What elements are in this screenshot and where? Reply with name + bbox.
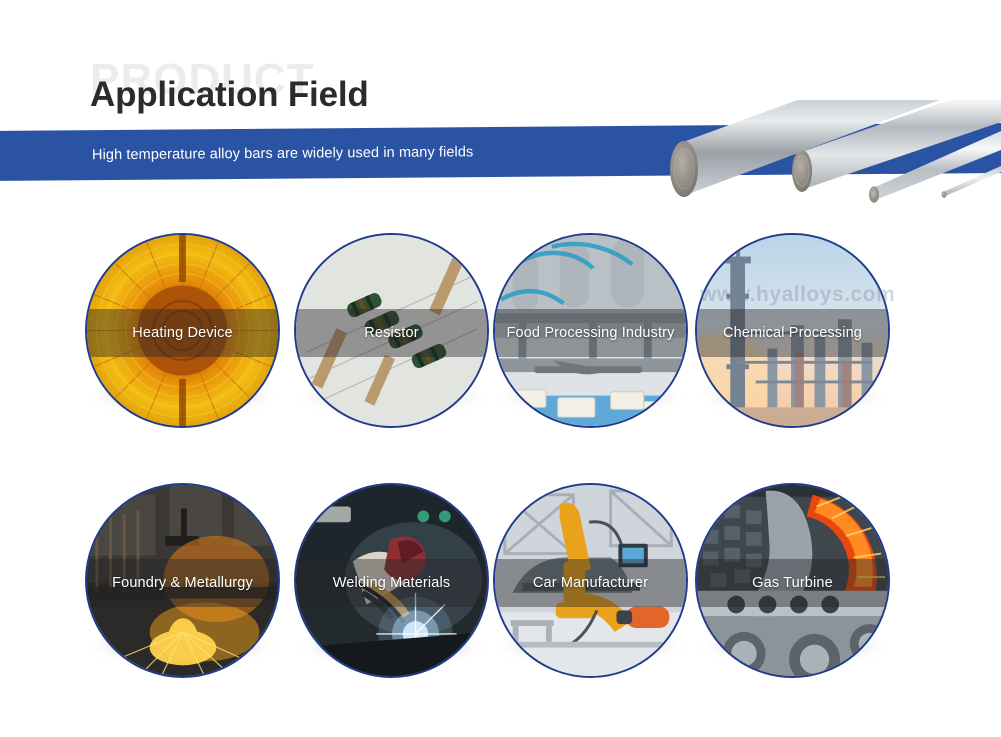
card-label-band: Car Manufacturer	[495, 559, 686, 607]
card-label: Foundry & Metallurgy	[108, 575, 257, 591]
card-label-band: Resistor	[296, 309, 487, 357]
card-label: Chemical Processing	[719, 325, 866, 341]
application-grid: Heating Device	[85, 233, 915, 733]
page-title: Application Field	[90, 75, 369, 115]
card-label: Gas Turbine	[748, 575, 837, 591]
card-label-band: Gas Turbine	[697, 559, 888, 607]
card-label-band: Heating Device	[87, 309, 278, 357]
card-circle[interactable]: Welding Materials	[294, 483, 489, 678]
card-circle[interactable]: Car Manufacturer	[493, 483, 688, 678]
card-circle[interactable]: Food Processing Industry	[493, 233, 688, 428]
application-card-heating-device[interactable]: Heating Device	[85, 233, 280, 428]
application-card-chemical-processing[interactable]: Chemical Processing	[695, 233, 890, 428]
card-label: Car Manufacturer	[529, 575, 652, 591]
card-label: Food Processing Industry	[502, 325, 678, 341]
card-circle[interactable]: Resistor	[294, 233, 489, 428]
application-field-slide: PRODUCT Application Field High temperatu…	[0, 0, 1001, 737]
application-card-gas-turbine[interactable]: Gas Turbine	[695, 483, 890, 678]
site-watermark: www.hyalloys.com	[700, 283, 895, 307]
application-card-welding-materials[interactable]: Welding Materials	[294, 483, 489, 678]
card-circle[interactable]: Foundry & Metallurgy	[85, 483, 280, 678]
card-label-band: Welding Materials	[296, 559, 487, 607]
card-circle[interactable]: Gas Turbine	[695, 483, 890, 678]
card-label-band: Foundry & Metallurgy	[87, 559, 278, 607]
application-card-resistor[interactable]: Resistor	[294, 233, 489, 428]
application-row-1: Heating Device	[85, 233, 915, 483]
card-label-band: Food Processing Industry	[495, 309, 686, 357]
card-circle[interactable]: Chemical Processing	[695, 233, 890, 428]
card-label: Resistor	[360, 325, 422, 341]
application-card-food-processing-industry[interactable]: Food Processing Industry	[493, 233, 688, 428]
subtitle-banner-text: High temperature alloy bars are widely u…	[92, 144, 473, 163]
subtitle-banner-content: High temperature alloy bars are widely u…	[0, 123, 1001, 181]
card-label: Welding Materials	[329, 575, 455, 591]
card-label: Heating Device	[128, 325, 236, 341]
application-row-2: Foundry & Metallurgy	[85, 483, 915, 733]
card-circle[interactable]: Heating Device	[85, 233, 280, 428]
application-card-foundry-metallurgy[interactable]: Foundry & Metallurgy	[85, 483, 280, 678]
application-card-car-manufacturer[interactable]: Car Manufacturer	[493, 483, 688, 678]
card-label-band: Chemical Processing	[697, 309, 888, 357]
